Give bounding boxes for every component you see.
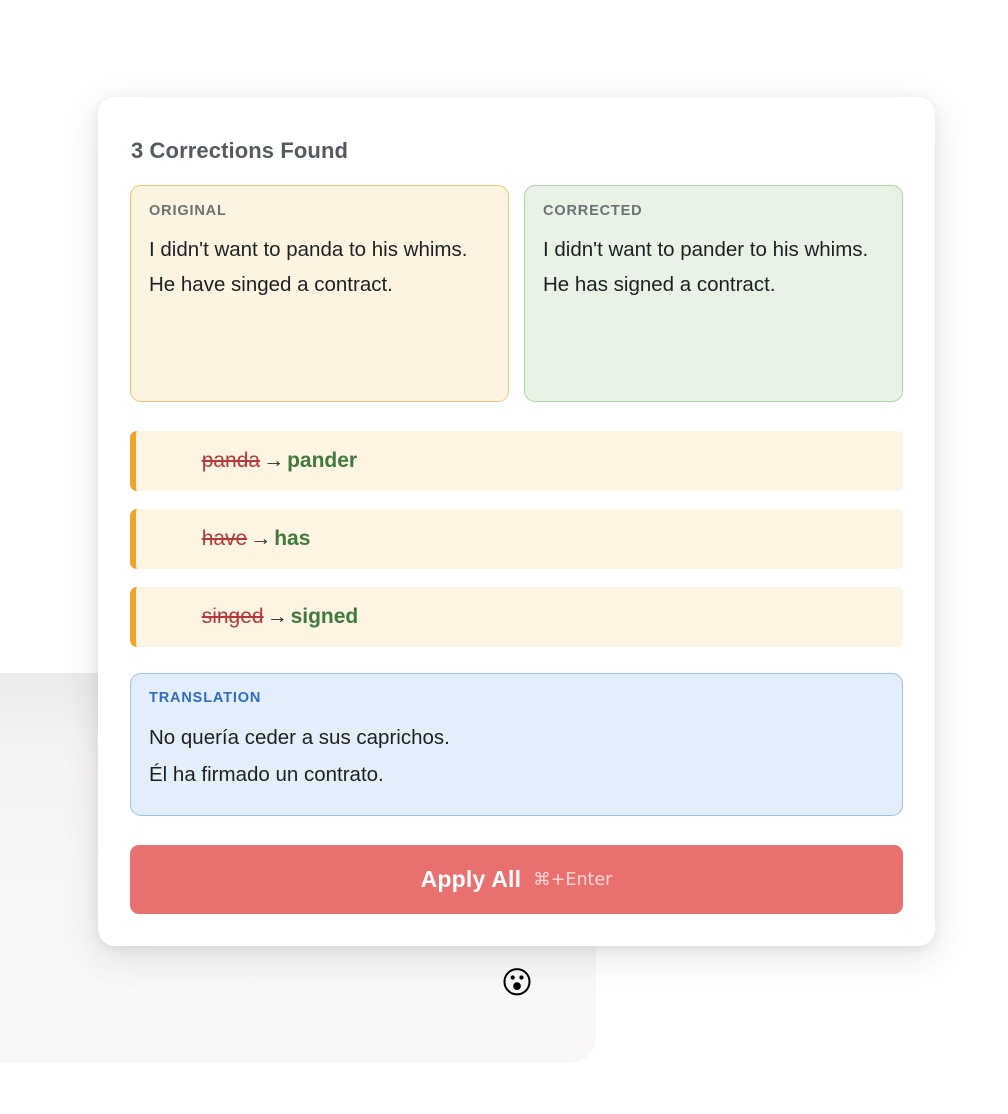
- correction-row[interactable]: singed→signed: [130, 587, 903, 647]
- corrected-panel-text: I didn't want to pander to his whims. He…: [543, 232, 884, 302]
- correction-diff: have→has: [155, 500, 310, 578]
- translation-panel: TRANSLATION No quería ceder a sus capric…: [130, 673, 903, 816]
- correction-wrong-word: have: [202, 527, 248, 550]
- arrow-right-icon: →: [260, 449, 287, 472]
- corrections-card: 3 Corrections Found ORIGINAL I didn't wa…: [98, 97, 935, 946]
- apply-all-button[interactable]: Apply All ⌘+Enter: [130, 845, 903, 914]
- arrow-right-icon: →: [264, 605, 291, 628]
- translation-panel-label: TRANSLATION: [149, 690, 884, 706]
- page-title: 3 Corrections Found: [131, 134, 903, 168]
- face-with-open-mouth-emoji: 😮: [499, 965, 535, 1001]
- corrected-text-panel: CORRECTED I didn't want to pander to his…: [524, 185, 903, 402]
- correction-wrong-word: singed: [202, 605, 264, 628]
- correction-right-word: signed: [291, 605, 359, 628]
- correction-row[interactable]: panda→pander: [130, 431, 903, 491]
- corrections-list: panda→pander have→has singed→signed: [130, 431, 903, 647]
- correction-diff: singed→signed: [155, 578, 358, 656]
- correction-right-word: has: [274, 527, 310, 550]
- original-text-panel: ORIGINAL I didn't want to panda to his w…: [130, 185, 509, 402]
- arrow-right-icon: →: [247, 527, 274, 550]
- correction-right-word: pander: [287, 449, 357, 472]
- correction-row[interactable]: have→has: [130, 509, 903, 569]
- corrected-panel-label: CORRECTED: [543, 203, 884, 219]
- translation-panel-text: No quería ceder a sus caprichos. Él ha f…: [149, 719, 884, 793]
- original-panel-label: ORIGINAL: [149, 203, 490, 219]
- original-panel-text: I didn't want to panda to his whims. He …: [149, 232, 490, 302]
- apply-all-shortcut-hint: ⌘+Enter: [533, 870, 612, 890]
- correction-diff: panda→pander: [155, 422, 357, 500]
- compare-panels-row: ORIGINAL I didn't want to panda to his w…: [130, 185, 903, 402]
- correction-wrong-word: panda: [202, 449, 260, 472]
- apply-all-label: Apply All: [421, 866, 522, 893]
